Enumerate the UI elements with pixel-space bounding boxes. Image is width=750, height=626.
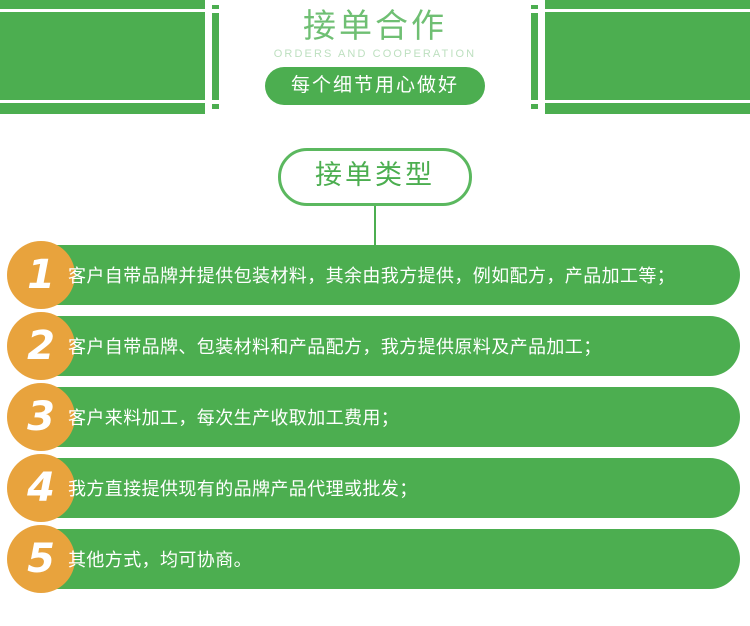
- header-band: 接单合作 ORDERS AND COOPERATION 每个细节用心做好: [0, 0, 750, 114]
- header-rule-right-bottom: [542, 100, 750, 103]
- page-title: 接单合作: [225, 0, 525, 46]
- list-item: 5 其他方式，均可协商。: [0, 529, 750, 589]
- header-text-group: 接单合作 ORDERS AND COOPERATION 每个细节用心做好: [225, 0, 525, 114]
- header-decor-slab-right: [545, 0, 750, 114]
- page-subtitle: ORDERS AND COOPERATION: [225, 46, 525, 62]
- header-accent-nick-right-top: [531, 9, 538, 13]
- list-item-label: 其他方式，均可协商。: [68, 529, 730, 589]
- list-item-label: 客户自带品牌并提供包装材料，其余由我方提供，例如配方，产品加工等；: [68, 245, 730, 305]
- header-accent-nick-left-bottom: [212, 100, 219, 104]
- header-decor-slab-left: [0, 0, 205, 114]
- order-type-list: 1 客户自带品牌并提供包装材料，其余由我方提供，例如配方，产品加工等； 2 客户…: [0, 245, 750, 600]
- list-item-label: 客户自带品牌、包装材料和产品配方，我方提供原料及产品加工；: [68, 316, 730, 376]
- section-title: 接单类型: [278, 148, 472, 206]
- section-title-connector-line: [374, 206, 376, 245]
- header-accent-nick-right-bottom: [531, 100, 538, 104]
- list-item-label: 客户来料加工，每次生产收取加工费用；: [68, 387, 730, 447]
- list-item: 2 客户自带品牌、包装材料和产品配方，我方提供原料及产品加工；: [0, 316, 750, 376]
- header-rule-left-top: [0, 9, 208, 12]
- list-item-number-badge: 1: [7, 241, 75, 309]
- list-item-number-badge: 4: [7, 454, 75, 522]
- header-accent-bar-left: [212, 5, 219, 109]
- list-item-number-badge: 5: [7, 525, 75, 593]
- header-accent-bar-right: [531, 5, 538, 109]
- list-item-number-badge: 2: [7, 312, 75, 380]
- header-rule-left-bottom: [0, 100, 208, 103]
- section-title-wrap: 接单类型: [0, 148, 750, 206]
- header-accent-nick-left-top: [212, 9, 219, 13]
- list-item-number-badge: 3: [7, 383, 75, 451]
- list-item-label: 我方直接提供现有的品牌产品代理或批发；: [68, 458, 730, 518]
- list-item: 3 客户来料加工，每次生产收取加工费用；: [0, 387, 750, 447]
- header-tagline-pill: 每个细节用心做好: [265, 67, 485, 105]
- list-item: 1 客户自带品牌并提供包装材料，其余由我方提供，例如配方，产品加工等；: [0, 245, 750, 305]
- header-rule-right-top: [542, 9, 750, 12]
- list-item: 4 我方直接提供现有的品牌产品代理或批发；: [0, 458, 750, 518]
